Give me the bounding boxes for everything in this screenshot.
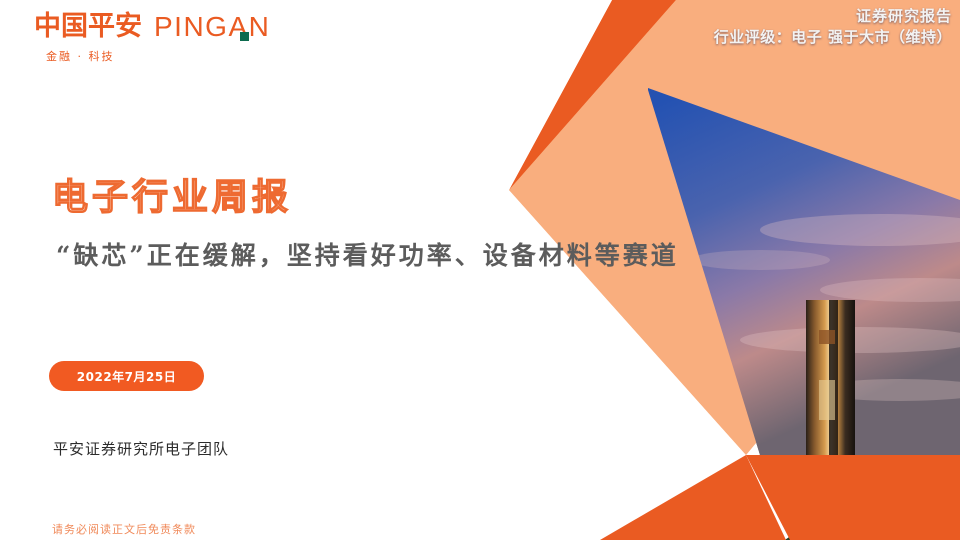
logo-tagline: 金融 · 科技 [46, 48, 284, 64]
pingan-logo: 中国平安 PINGAN 金融 · 科技 [34, 10, 284, 62]
logo-wordmark-row: 中国平安 PINGAN [34, 10, 284, 44]
industry-rating-label: 行业评级：电子 强于大市（维持） [714, 26, 952, 48]
report-date-label: 2022年7月25日 [77, 368, 176, 385]
logo-chinese-text: 中国平安 [34, 11, 142, 43]
page-title: 电子行业周报 [52, 168, 292, 220]
disclaimer-label: 请务必阅读正文后免责条款 [52, 521, 196, 537]
report-type-label: 证券研究报告 [714, 6, 952, 26]
research-team-label: 平安证券研究所电子团队 [53, 438, 229, 459]
report-header: 证券研究报告 行业评级：电子 强于大市（维持） [714, 6, 952, 48]
logo-english-label: PINGAN [154, 11, 270, 42]
page-subtitle: “缺芯”正在缓解，坚持看好功率、设备材料等赛道 [56, 236, 679, 272]
slide-cover: 中国平安 PINGAN 金融 · 科技 证券研究报告 行业评级：电子 强于大市（… [0, 0, 960, 540]
report-date-badge: 2022年7月25日 [49, 361, 204, 391]
pingan-green-square-icon [240, 32, 249, 41]
logo-english-text: PINGAN [154, 11, 270, 43]
